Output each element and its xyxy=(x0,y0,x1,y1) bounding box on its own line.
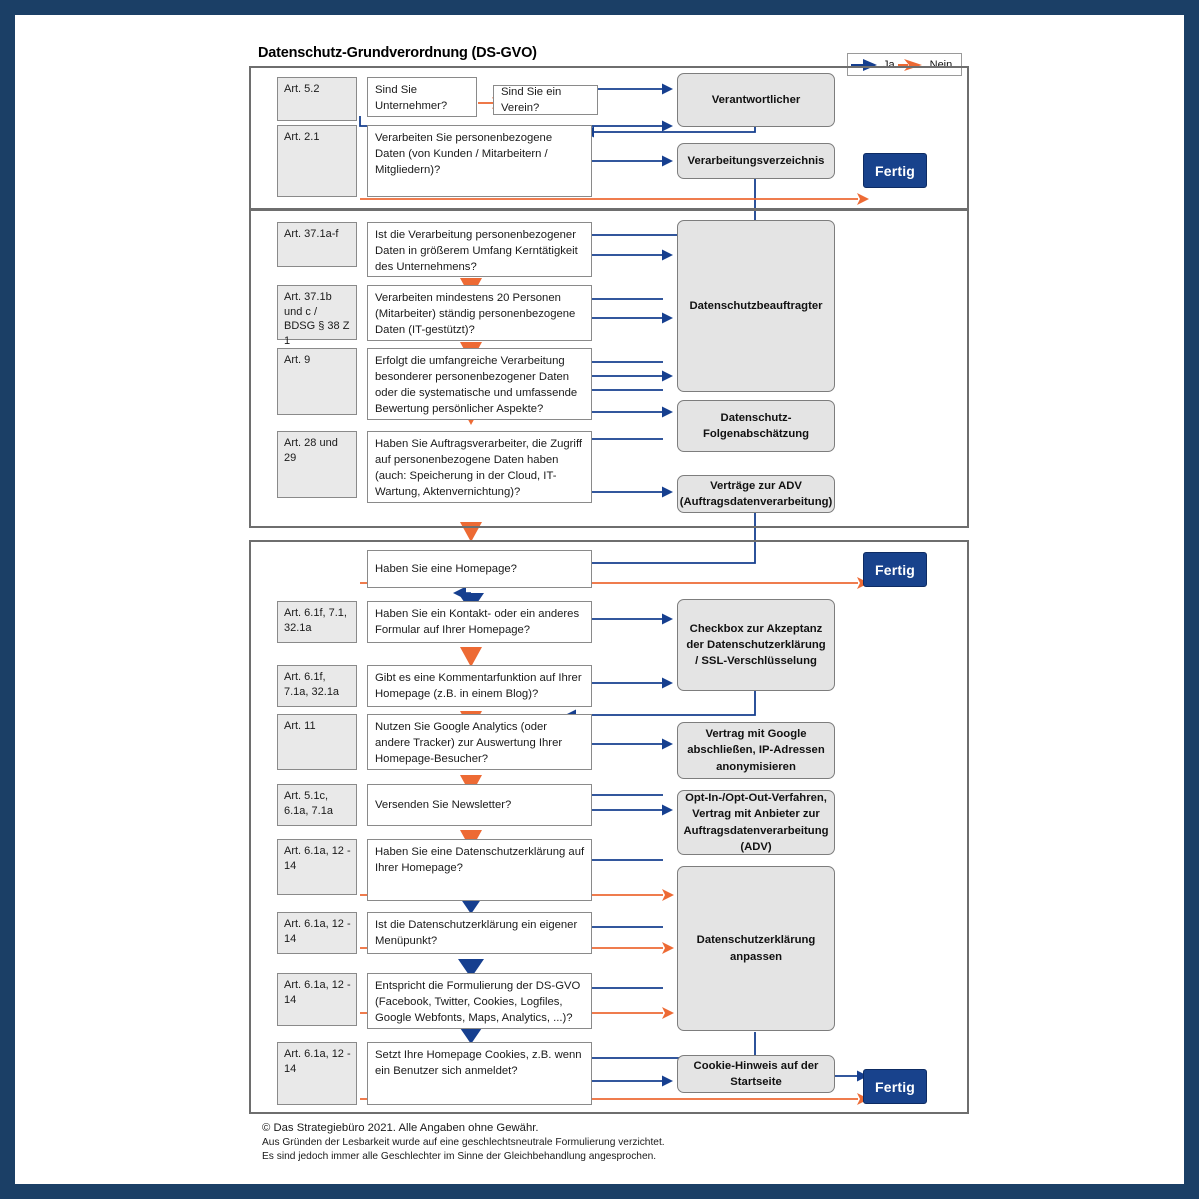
article-box: Art. 6.1f, 7.1a, 32.1a xyxy=(277,665,357,707)
article-box: Art. 5.2 xyxy=(277,77,357,121)
question-box: Haben Sie Auftragsverarbeiter, die Zugri… xyxy=(367,431,592,503)
action-box: Datenschutz-Folgenabschätzung xyxy=(677,400,835,452)
question-box: Entspricht die Formulierung der DS-GVO (… xyxy=(367,973,592,1029)
question-box: Nutzen Sie Google Analytics (oder andere… xyxy=(367,714,592,770)
action-box: Verantwortlicher xyxy=(677,73,835,127)
section-2-panel xyxy=(249,208,969,528)
action-box: Vertrag mit Google abschließen, IP-Adres… xyxy=(677,722,835,779)
article-box: Art. 6.1a, 12 - 14 xyxy=(277,1042,357,1105)
article-box: Art. 6.1f, 7.1, 32.1a xyxy=(277,601,357,643)
article-box: Art. 6.1a, 12 - 14 xyxy=(277,839,357,895)
question-box: Setzt Ihre Homepage Cookies, z.B. wenn e… xyxy=(367,1042,592,1105)
question-box: Ist die Datenschutzerklärung ein eigener… xyxy=(367,912,592,954)
action-box: Checkbox zur Akzeptanz der Datenschutzer… xyxy=(677,599,835,691)
action-box: Datenschutzerklärung anpassen xyxy=(677,866,835,1031)
end-button-fertig[interactable]: Fertig xyxy=(863,153,927,188)
question-box: Haben Sie eine Homepage? xyxy=(367,550,592,588)
question-box: Verarbeiten mindestens 20 Personen (Mita… xyxy=(367,285,592,341)
article-box: Art. 2.1 xyxy=(277,125,357,197)
question-box: Versenden Sie Newsletter? xyxy=(367,784,592,826)
article-box: Art. 37.1a-f xyxy=(277,222,357,267)
footer-copyright: © Das Strategiebüro 2021. Alle Angaben o… xyxy=(262,1122,665,1134)
footer-note-1: Aus Gründen der Lesbarkeit wurde auf ein… xyxy=(262,1137,665,1148)
action-box: Verarbeitungsverzeichnis xyxy=(677,143,835,179)
question-box: Haben Sie eine Datenschutzerklärung auf … xyxy=(367,839,592,901)
question-box: Erfolgt die umfangreiche Verarbeitung be… xyxy=(367,348,592,420)
article-box: Art. 9 xyxy=(277,348,357,415)
section-3-panel xyxy=(249,540,969,1114)
end-button-fertig[interactable]: Fertig xyxy=(863,1069,927,1104)
page-canvas: Datenschutz-Grundverordnung (DS-GVO) Ja … xyxy=(15,15,1184,1184)
section-1-panel xyxy=(249,66,969,211)
question-box: Sind Sie ein Verein? xyxy=(493,85,598,115)
question-box: Verarbeiten Sie personenbezogene Daten (… xyxy=(367,125,592,197)
footer: © Das Strategiebüro 2021. Alle Angaben o… xyxy=(262,1122,665,1165)
end-button-fertig[interactable]: Fertig xyxy=(863,552,927,587)
question-box: Haben Sie ein Kontakt- oder ein anderes … xyxy=(367,601,592,643)
article-box: Art. 11 xyxy=(277,714,357,770)
article-box: Art. 37.1b und c / BDSG § 38 Z 1 xyxy=(277,285,357,340)
article-box: Art. 5.1c, 6.1a, 7.1a xyxy=(277,784,357,826)
footer-note-2: Es sind jedoch immer alle Geschlechter i… xyxy=(262,1151,665,1162)
article-box: Art. 6.1a, 12 - 14 xyxy=(277,973,357,1026)
action-box: Opt-In-/Opt-Out-Verfahren, Vertrag mit A… xyxy=(677,790,835,855)
question-box: Gibt es eine Kommentarfunktion auf Ihrer… xyxy=(367,665,592,707)
article-box: Art. 28 und 29 xyxy=(277,431,357,498)
question-box: Sind Sie Unternehmer? xyxy=(367,77,477,117)
article-box: Art. 6.1a, 12 - 14 xyxy=(277,912,357,954)
action-box: Cookie-Hinweis auf der Startseite xyxy=(677,1055,835,1093)
page-title: Datenschutz-Grundverordnung (DS-GVO) xyxy=(258,45,537,61)
question-box: Ist die Verarbeitung personenbezogener D… xyxy=(367,222,592,277)
action-box: Verträge zur ADV (Auftragsdatenverarbeit… xyxy=(677,475,835,513)
action-box: Datenschutzbeauftragter xyxy=(677,220,835,392)
